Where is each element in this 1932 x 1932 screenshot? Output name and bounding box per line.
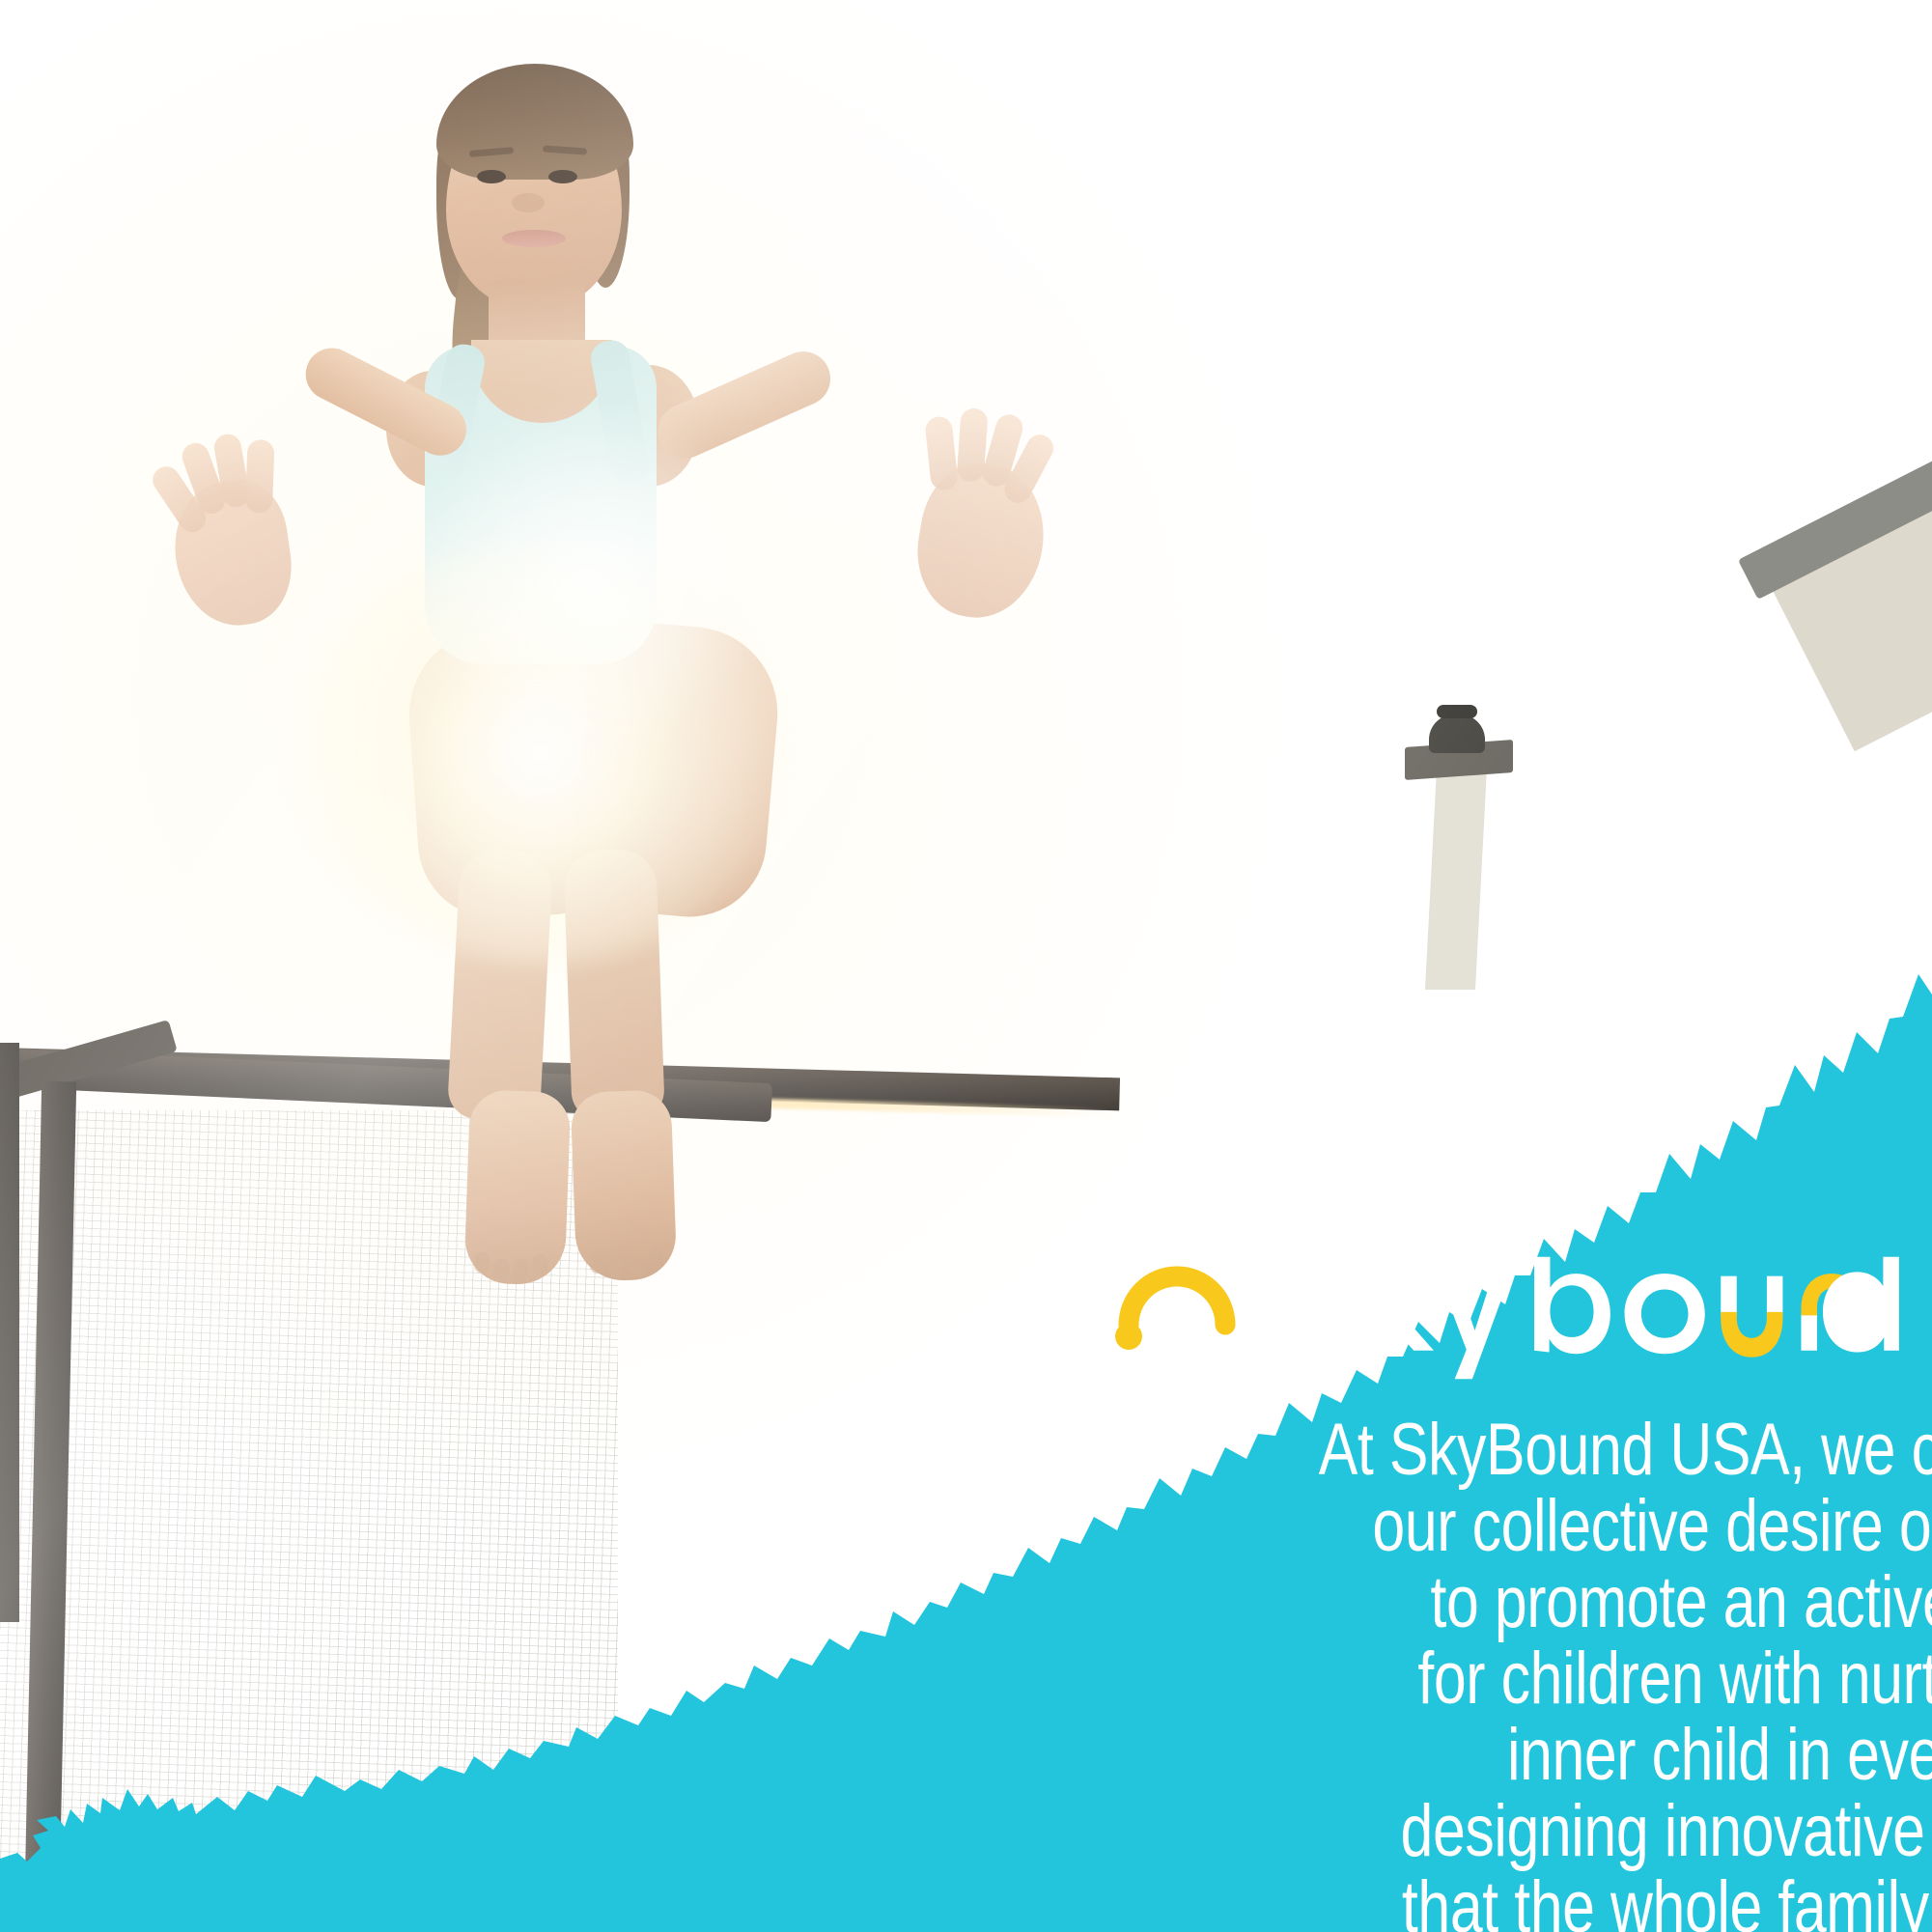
- hand-left: [166, 474, 299, 633]
- promo-graphic: At SkyBound USA, we combined our collect…: [0, 0, 1932, 1932]
- arm-right: [650, 343, 839, 466]
- skybound-logo[interactable]: [830, 1246, 1902, 1390]
- hair: [436, 64, 633, 180]
- skybound-sun-cloud-icon: [1113, 1246, 1258, 1390]
- eye-right: [548, 170, 577, 183]
- mouth: [502, 230, 566, 247]
- brand-block: At SkyBound USA, we combined our collect…: [830, 1246, 1902, 1932]
- foot-right: [571, 1089, 678, 1282]
- skybound-wordmark: [1283, 1255, 1902, 1381]
- hand-right: [907, 454, 1055, 628]
- foot-left: [464, 1089, 572, 1286]
- eye-left: [477, 170, 506, 183]
- tagline-text: At SkyBound USA, we combined our collect…: [1097, 1412, 1932, 1932]
